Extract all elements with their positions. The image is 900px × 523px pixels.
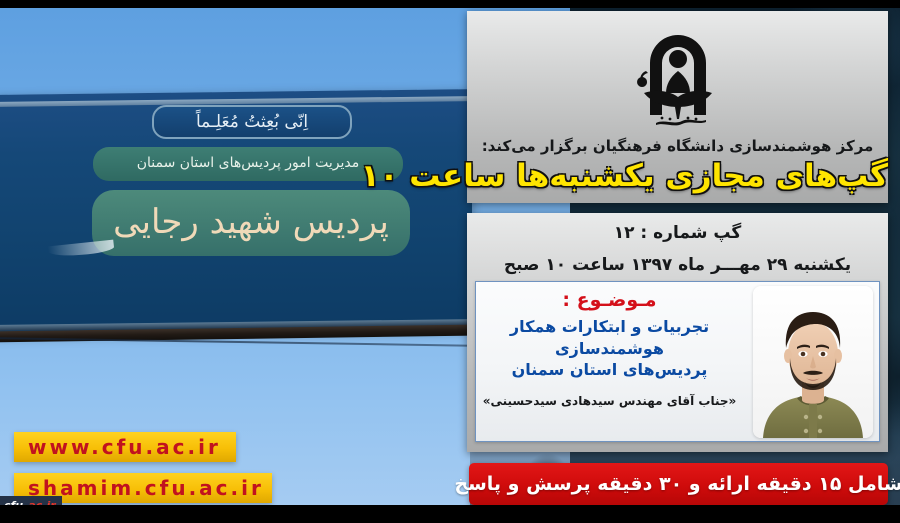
website-url-main[interactable]: www.cfu.ac.ir bbox=[14, 432, 236, 462]
topic-label: مـوضـوع : bbox=[480, 289, 739, 311]
billboard-campus-text: پردیس شهید رجایی bbox=[113, 204, 389, 241]
speaker-name: «جناب آقای مهندس سیدهادی سیدحسینی» bbox=[480, 394, 739, 408]
billboard-campus-plate: پردیس شهید رجایی bbox=[92, 190, 410, 256]
website-url-main-text: www.cfu.ac.ir bbox=[28, 435, 221, 459]
farhangian-university-logo-icon bbox=[620, 19, 736, 131]
billboard-quran-plate: اِنّى بُعِثتُ مُعَلِـماً bbox=[152, 105, 352, 139]
topic-line-2: پردیس‌های استان سمنان bbox=[480, 359, 739, 381]
session-number: گپ شماره : ۱۲ bbox=[467, 223, 888, 243]
speaker-avatar bbox=[753, 286, 873, 438]
billboard-department-plate: مدیریت امور پردیس‌های استان سمنان bbox=[93, 147, 403, 181]
duration-banner-text: شامل ۱۵ دقیقه ارائه و ۳۰ دقیقه پرسش و پا… bbox=[454, 473, 900, 495]
header-panel: مرکز هوشمندسازی دانشگاه فرهنگیان برگزار … bbox=[467, 11, 888, 203]
page-title: گپ‌های مجازی یکشنبه‌ها ساعت ۱۰ bbox=[467, 158, 888, 194]
session-date: یکشنبه ۲۹ مهـــر ماه ۱۳۹۷ ساعت ۱۰ صبح bbox=[467, 255, 888, 275]
details-panel: گپ شماره : ۱۲ یکشنبه ۲۹ مهـــر ماه ۱۳۹۷ … bbox=[467, 213, 888, 452]
topic-card: مـوضـوع : تجربیات و ابتکارات همکار هوشمن… bbox=[475, 281, 880, 442]
topic-line-1: تجربیات و ابتکارات همکار هوشمندسازی bbox=[480, 316, 739, 359]
letterbox-bottom bbox=[0, 505, 900, 523]
billboard-quran-text: اِنّى بُعِثتُ مُعَلِـماً bbox=[196, 113, 308, 132]
letterbox-top bbox=[0, 0, 900, 8]
duration-banner: شامل ۱۵ دقیقه ارائه و ۳۰ دقیقه پرسش و پا… bbox=[469, 463, 888, 505]
website-url-shamim-text: shamim.cfu.ac.ir bbox=[28, 476, 264, 500]
billboard-department-text: مدیریت امور پردیس‌های استان سمنان bbox=[137, 156, 360, 171]
topic-card-text: مـوضـوع : تجربیات و ابتکارات همکار هوشمن… bbox=[476, 282, 749, 441]
poster-root: اِنّى بُعِثتُ مُعَلِـماً مدیریت امور پرد… bbox=[0, 0, 900, 523]
speaker-photo-frame bbox=[749, 282, 879, 441]
host-line: مرکز هوشمندسازی دانشگاه فرهنگیان برگزار … bbox=[467, 137, 888, 155]
